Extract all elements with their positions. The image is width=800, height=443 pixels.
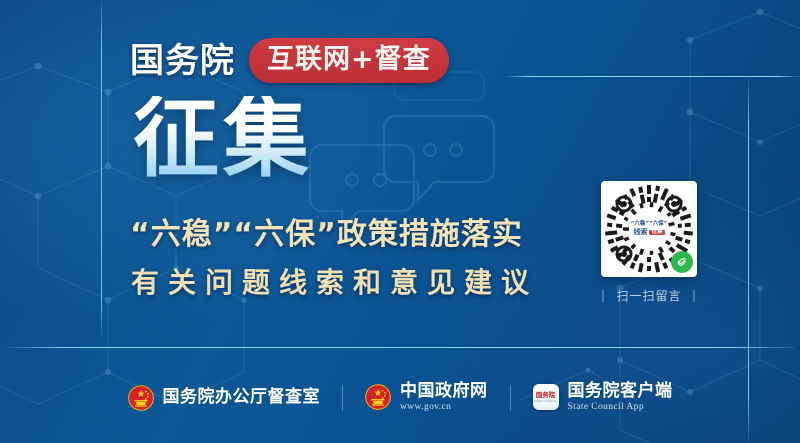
- organization-title: 国务院: [130, 44, 235, 78]
- national-emblem-icon: [128, 385, 154, 411]
- wechat-miniprogram-icon: [671, 251, 693, 273]
- bracket-right-icon: 丨: [688, 286, 702, 305]
- qr-center-badge: 征集: [649, 229, 664, 235]
- page-title: 征集: [133, 96, 313, 182]
- accent-horizontal-line-footer: [2, 347, 795, 348]
- miniprogram-glyph: [675, 255, 690, 270]
- footer-label: 国务院客户端: [568, 382, 673, 402]
- qr-code-block: “六稳”“六保” 线索 征集 丨 扫一扫留言 丨: [601, 181, 697, 305]
- subtitle-line-1: “六稳”“六保”政策措施落实: [130, 218, 523, 251]
- footer-item-state-council-app[interactable]: 国务院 STATE COUNCIL 国务院客户端 State Council A…: [511, 382, 695, 414]
- bracket-left-icon: 丨: [596, 286, 610, 305]
- scan-label: 扫一扫留言: [617, 287, 682, 304]
- header-row: 国务院 互联网+督查: [130, 38, 449, 83]
- scan-instruction: 丨 扫一扫留言 丨: [601, 286, 697, 305]
- qr-code-image[interactable]: “六稳”“六保” 线索 征集: [601, 181, 697, 277]
- footer-label: 中国政府网: [400, 382, 488, 402]
- footer-label: 国务院办公厅督查室: [163, 388, 321, 408]
- state-council-app-icon: 国务院 STATE COUNCIL: [533, 384, 559, 410]
- footer-sublabel: State Council App: [568, 401, 673, 413]
- qr-center-text: 线索: [633, 229, 647, 236]
- app-icon-sublabel: STATE COUNCIL: [534, 400, 557, 403]
- accent-horizontal-line-header: [505, 76, 800, 77]
- national-emblem-icon: [365, 384, 391, 410]
- footer-item-gov-cn[interactable]: 中国政府网 www.gov.cn: [343, 382, 510, 414]
- accent-vertical-line-left: [101, 0, 102, 338]
- footer-item-state-council-office[interactable]: 国务院办公厅督查室: [106, 385, 343, 411]
- qr-center-label: “六稳”“六保” 线索 征集: [626, 222, 672, 236]
- app-icon-label: 国务院: [536, 392, 556, 399]
- subtitle-line-2: 有关问题线索和意见建议: [131, 268, 538, 299]
- campaign-badge: 互联网+督查: [249, 38, 449, 83]
- footer-sublabel: www.gov.cn: [400, 401, 488, 413]
- poster-banner: 国务院 互联网+督查 征集 “六稳”“六保”政策措施落实 有关问题线索和意见建议: [0, 0, 800, 443]
- footer-bar: 国务院办公厅督查室 中国政府网 www.gov.cn: [0, 352, 800, 443]
